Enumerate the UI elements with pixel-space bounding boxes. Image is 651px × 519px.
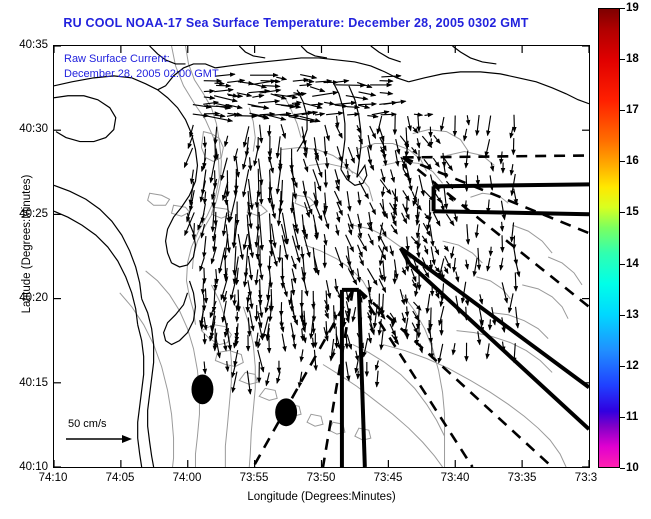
colorbar-label-6: 13 — [626, 309, 639, 321]
colorbar-tick-8 — [620, 417, 625, 418]
scale-bar-label: 50 cm/s — [68, 418, 156, 430]
scale-bar-legend: 50 cm/s — [64, 418, 156, 445]
colorbar-label-7: 12 — [626, 360, 639, 372]
colorbar-label-9: 10 — [626, 462, 639, 474]
map-vector-graphics — [54, 46, 589, 467]
map-plot-area[interactable]: Raw Surface Current: December 28, 2005 0… — [53, 45, 590, 468]
colorbar-tick-0 — [620, 8, 625, 9]
colorbar[interactable]: 19181716151413121110 — [598, 8, 620, 468]
x-tick-0: 74:10 — [23, 472, 83, 484]
y-tick-0: 40:35 — [2, 39, 48, 51]
colorbar-label-5: 14 — [626, 258, 639, 270]
x-tick-5: 73:45 — [358, 472, 418, 484]
axis-tick-marks — [54, 46, 589, 467]
colorbar-tick-1 — [620, 59, 625, 60]
x-axis-title: Longitude (Degrees:Minutes) — [53, 491, 590, 503]
x-tick-4: 73:50 — [291, 472, 351, 484]
colorbar-label-0: 19 — [626, 2, 639, 14]
bathymetry-contours — [120, 46, 582, 467]
colorbar-tick-2 — [620, 110, 625, 111]
colorbar-tick-9 — [620, 468, 625, 469]
x-tick-7: 73:35 — [492, 472, 552, 484]
radar-sector-solid-upper — [434, 184, 589, 214]
colorbar-label-3: 16 — [626, 155, 639, 167]
x-tick-2: 74:00 — [157, 472, 217, 484]
x-tick-6: 73:40 — [425, 472, 485, 484]
colorbar-tick-3 — [620, 161, 625, 162]
colorbar-tick-6 — [620, 315, 625, 316]
colorbar-gradient — [598, 8, 620, 468]
y-tick-4: 40:15 — [2, 377, 48, 389]
colorbar-label-2: 17 — [626, 104, 639, 116]
colorbar-tick-4 — [620, 212, 625, 213]
sst-current-map-figure: RU COOL NOAA-17 Sea Surface Temperature:… — [0, 0, 651, 519]
page-title: RU COOL NOAA-17 Sea Surface Temperature:… — [0, 16, 592, 30]
x-tick-1: 74:05 — [90, 472, 150, 484]
colorbar-tick-5 — [620, 264, 625, 265]
colorbar-tick-7 — [620, 366, 625, 367]
colorbar-label-8: 11 — [626, 411, 638, 423]
y-axis-title: Latitude (Degrees:Minutes) — [21, 129, 33, 359]
x-tick-3: 73:55 — [224, 472, 284, 484]
coastline-contours — [54, 46, 589, 467]
x-tick-8: 73:3 — [556, 472, 616, 484]
colorbar-label-4: 15 — [626, 206, 639, 218]
surface-current-vectors — [184, 74, 519, 394]
colorbar-label-1: 18 — [626, 53, 639, 65]
scale-bar-arrow-icon — [64, 433, 136, 445]
